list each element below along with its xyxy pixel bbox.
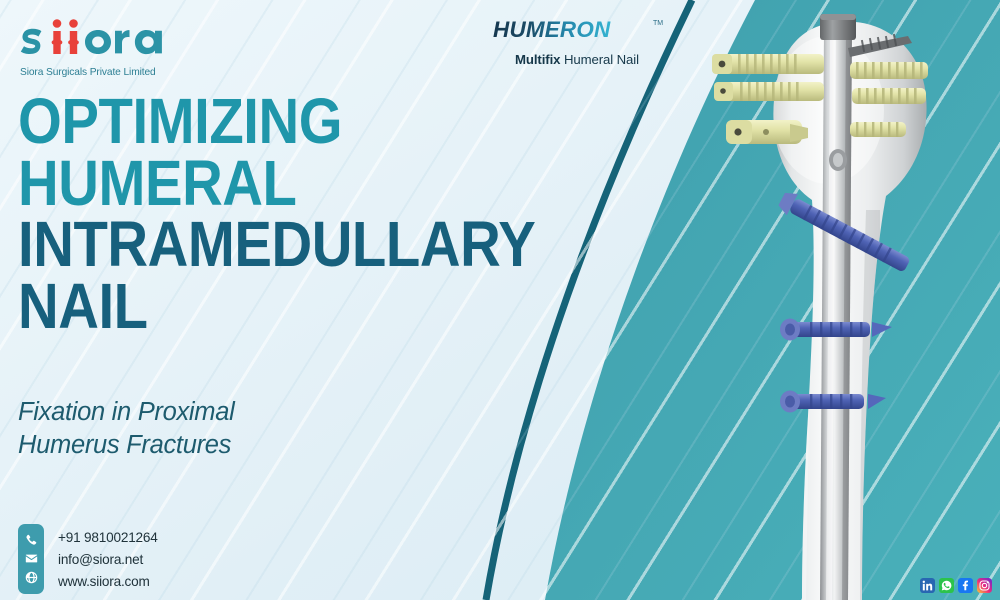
subheadline-line-2: Humerus Fractures (18, 429, 235, 462)
contact-email[interactable]: info@siora.net (58, 549, 158, 571)
gold-screw-upper-right (850, 62, 928, 79)
contact-icon-bar (18, 524, 44, 594)
product-subtitle-bold: Multifix (515, 52, 560, 67)
subheadline-line-1: Fixation in Proximal (18, 396, 235, 429)
blue-screw-tip-lower (868, 394, 886, 409)
envelope-icon (25, 552, 38, 565)
product-logo: HUMERON TM Multifix Humeral Nail (487, 17, 667, 67)
company-tagline: Siora Surgicals Private Limited (20, 67, 184, 78)
headline-line-1: OPTIMIZING (18, 92, 511, 152)
humeron-wordmark-icon: HUMERON TM (491, 17, 663, 43)
contact-phone[interactable]: +91 9810021264 (58, 527, 158, 549)
gold-screw-head-mid-left (714, 82, 824, 101)
trademark-symbol: TM (653, 20, 663, 27)
headline-line-4: NAIL (18, 277, 511, 337)
headline-line-2: HUMERAL (18, 154, 511, 214)
gold-screw-mid-right (852, 88, 926, 104)
blue-screw-tip-mid (872, 322, 892, 337)
siiora-wordmark-icon (16, 14, 168, 66)
phone-icon (25, 534, 38, 547)
implant-illustration (690, 0, 1000, 600)
headline-block: OPTIMIZING HUMERAL INTRAMEDULLARY NAIL (18, 92, 578, 338)
globe-icon (25, 571, 38, 584)
contact-block: +91 9810021264 info@siora.net www.siiora… (18, 524, 158, 594)
company-logo[interactable]: Siora Surgicals Private Limited (16, 14, 184, 78)
svg-text:HUMERON: HUMERON (493, 17, 611, 42)
intramedullary-nail (820, 30, 852, 600)
product-subtitle-rest: Humeral Nail (560, 52, 639, 67)
headline-line-3: INTRAMEDULLARY (18, 215, 511, 275)
nail-cap-top (820, 14, 856, 20)
contact-website[interactable]: www.siiora.com (58, 571, 158, 593)
subheadline-block: Fixation in Proximal Humerus Fractures (18, 396, 235, 461)
gold-screw-head-lower-left (726, 120, 808, 144)
contact-text-lines: +91 9810021264 info@siora.net www.siiora… (58, 524, 158, 593)
gold-screw-head-upper-left (712, 54, 824, 74)
marketing-banner: Siora Surgicals Private Limited HUMERON … (0, 0, 1000, 600)
product-subtitle: Multifix Humeral Nail (487, 52, 667, 67)
gold-screw-lower-right (850, 122, 906, 137)
